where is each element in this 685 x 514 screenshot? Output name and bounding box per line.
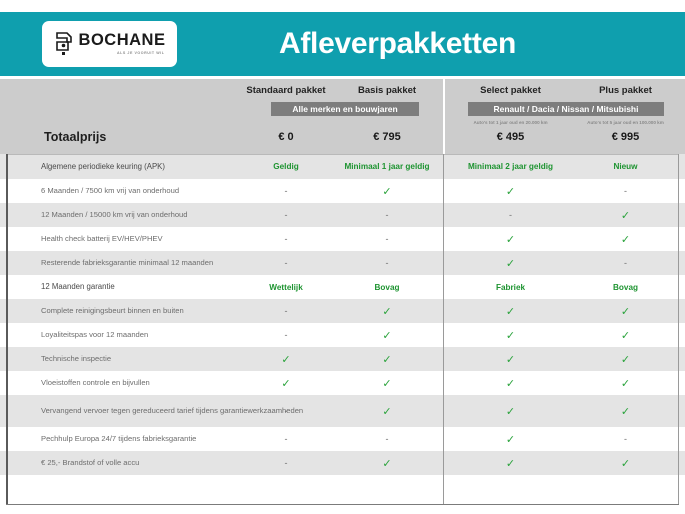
cell-2: ✓ [448,179,573,203]
cell-0: - [240,299,332,323]
row-label: 12 Maanden garantie [41,275,115,299]
column-note-select: Auto's tot 1 jaar oud en 20.000 km [448,120,573,125]
cell-3: ✓ [573,203,678,227]
cell-0: - [240,203,332,227]
cell-2: ✓ [448,251,573,275]
cell-3: Nieuw [573,154,678,179]
header-column-divider [443,79,445,154]
cell-0: Geldig [240,154,332,179]
cell-2: ✓ [448,299,573,323]
row-label: Resterende fabrieksgarantie minimaal 12 … [41,251,213,275]
table-top-rule [6,154,679,155]
price-standaard: € 0 [240,131,332,143]
cell-0: - [240,227,332,251]
table-row: Technische inspectie✓✓✓✓ [0,347,685,371]
cell-0: - [240,251,332,275]
row-label: Technische inspectie [41,347,111,371]
cell-3: ✓ [573,395,678,427]
logo-tagline: ALS JE VOORUIT WIL [117,52,164,56]
cell-2: ✓ [448,395,573,427]
cell-0: - [240,451,332,475]
feature-comparison-table: Algemene periodieke keuring (APK)GeldigM… [0,154,685,475]
table-row: Resterende fabrieksgarantie minimaal 12 … [0,251,685,275]
cell-3: - [573,251,678,275]
row-label: Algemene periodieke keuring (APK) [41,154,165,179]
cell-0: - [240,395,332,427]
cell-1: Bovag [332,275,442,299]
cell-1: ✓ [332,347,442,371]
cell-2: ✓ [448,427,573,451]
cell-2: Minimaal 2 jaar geldig [448,154,573,179]
table-bottom-rule [6,504,679,505]
row-label: Complete reinigingsbeurt binnen en buite… [41,299,184,323]
column-note-plus: Auto's tot 5 jaar oud en 100.000 km [573,120,678,125]
cell-3: ✓ [573,371,678,395]
table-left-spine [6,154,8,505]
table-row: Vervangend vervoer tegen gereduceerd tar… [0,395,685,427]
table-right-spine [678,154,679,505]
cell-1: ✓ [332,371,442,395]
row-label: Vloeistoffen controle en bijvullen [41,371,150,395]
table-row: 12 Maanden / 15000 km vrij van onderhoud… [0,203,685,227]
cell-1: ✓ [332,299,442,323]
table-row: Vloeistoffen controle en bijvullen✓✓✓✓ [0,371,685,395]
cell-2: - [448,203,573,227]
row-label: 12 Maanden / 15000 km vrij van onderhoud [41,203,188,227]
row-label: 6 Maanden / 7500 km vrij van onderhoud [41,179,179,203]
total-price-label: Totaalprijs [44,130,106,144]
column-title-standaard: Standaard pakket [240,85,332,96]
cell-2: ✓ [448,347,573,371]
bochane-logo: BOCHANE ALS JE VOORUIT WIL [42,21,177,67]
cell-0: Wettelijk [240,275,332,299]
cell-1: Minimaal 1 jaar geldig [332,154,442,179]
table-row: Health check batterij EV/HEV/PHEV--✓✓ [0,227,685,251]
cell-0: - [240,427,332,451]
table-row: Algemene periodieke keuring (APK)GeldigM… [0,154,685,179]
column-title-plus: Plus pakket [573,85,678,96]
cell-2: ✓ [448,227,573,251]
cell-1: - [332,251,442,275]
cell-1: - [332,427,442,451]
row-label: € 25,- Brandstof of volle accu [41,451,139,475]
cell-2: ✓ [448,371,573,395]
cell-0: ✓ [240,371,332,395]
cell-3: - [573,179,678,203]
cell-3: Bovag [573,275,678,299]
table-row: Loyaliteitspas voor 12 maanden-✓✓✓ [0,323,685,347]
column-title-basis: Basis pakket [332,85,442,96]
cell-1: ✓ [332,179,442,203]
bochane-wordmark: BOCHANE ALS JE VOORUIT WIL [79,32,166,55]
cell-0: ✓ [240,347,332,371]
price-select: € 495 [448,131,573,143]
table-row: Pechhulp Europa 24/7 tijdens fabrieksgar… [0,427,685,451]
table-middle-divider [443,154,444,505]
cell-1: ✓ [332,323,442,347]
cell-2: ✓ [448,451,573,475]
table-row: € 25,- Brandstof of volle accu-✓✓✓ [0,451,685,475]
afleverpakketten-page: Afleverpakketten BOCHANE ALS JE VOORUIT … [0,0,685,514]
cell-1: ✓ [332,451,442,475]
cell-3: ✓ [573,451,678,475]
bochane-mark-icon [54,31,74,57]
row-label: Health check batterij EV/HEV/PHEV [41,227,163,251]
price-plus: € 995 [573,131,678,143]
row-label: Pechhulp Europa 24/7 tijdens fabrieksgar… [41,427,196,451]
column-title-select: Select pakket [448,85,573,96]
price-basis: € 795 [332,131,442,143]
header-banner: Afleverpakketten BOCHANE ALS JE VOORUIT … [0,12,685,76]
cell-2: ✓ [448,323,573,347]
cell-2: Fabriek [448,275,573,299]
cell-3: ✓ [573,347,678,371]
cell-1: ✓ [332,395,442,427]
table-row: Complete reinigingsbeurt binnen en buite… [0,299,685,323]
cell-1: - [332,227,442,251]
cell-1: - [332,203,442,227]
table-row: 6 Maanden / 7500 km vrij van onderhoud-✓… [0,179,685,203]
badge-merken-renault-dacia-nissan-mitsubishi: Renault / Dacia / Nissan / Mitsubishi [468,102,664,116]
table-row: 12 Maanden garantieWettelijkBovagFabriek… [0,275,685,299]
cell-0: - [240,323,332,347]
logo-word: BOCHANE [79,32,166,49]
cell-0: - [240,179,332,203]
row-label: Loyaliteitspas voor 12 maanden [41,323,148,347]
badge-alle-merken: Alle merken en bouwjaren [271,102,419,116]
cell-3: ✓ [573,323,678,347]
cell-3: ✓ [573,299,678,323]
cell-3: - [573,427,678,451]
cell-3: ✓ [573,227,678,251]
